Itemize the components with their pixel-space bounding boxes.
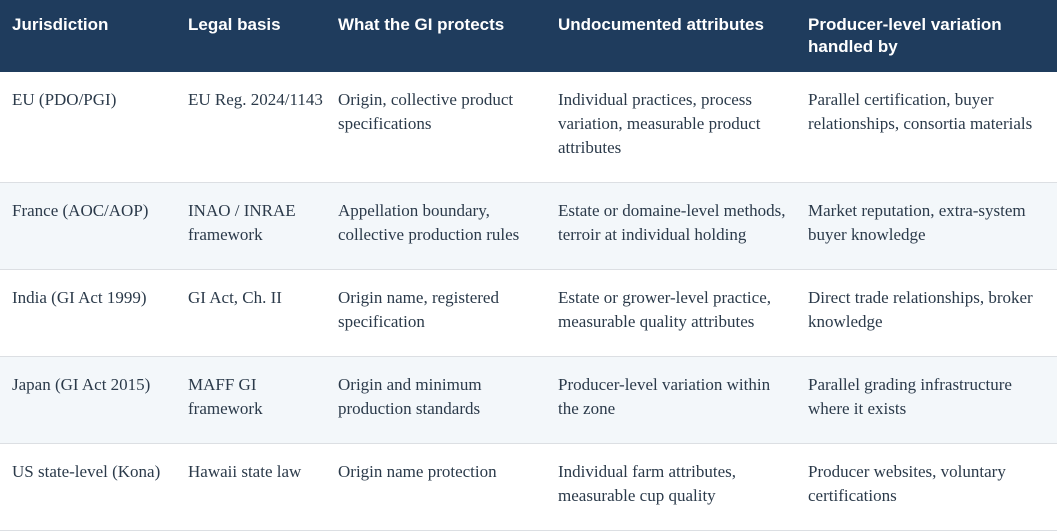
cell-legal-basis: MAFF GI framework <box>188 357 338 444</box>
table-header: Jurisdiction Legal basis What the GI pro… <box>0 0 1057 72</box>
table-header-row: Jurisdiction Legal basis What the GI pro… <box>0 0 1057 72</box>
table-row: India (GI Act 1999) GI Act, Ch. II Origi… <box>0 270 1057 357</box>
cell-legal-basis: EU Reg. 2024/1143 <box>188 72 338 183</box>
table-row: US state-level (Kona) Hawaii state law O… <box>0 444 1057 531</box>
table-row: France (AOC/AOP) INAO / INRAE framework … <box>0 183 1057 270</box>
cell-variation-handled-by: Producer websites, voluntary certificati… <box>808 444 1057 531</box>
cell-undocumented-attributes: Estate or grower-level practice, measura… <box>558 270 808 357</box>
cell-protects: Appellation boundary, collective product… <box>338 183 558 270</box>
column-header-undocumented-attributes: Undocumented attributes <box>558 0 808 72</box>
table-row: EU (PDO/PGI) EU Reg. 2024/1143 Origin, c… <box>0 72 1057 183</box>
cell-undocumented-attributes: Producer-level variation within the zone <box>558 357 808 444</box>
cell-jurisdiction: India (GI Act 1999) <box>0 270 188 357</box>
cell-protects: Origin and minimum production standards <box>338 357 558 444</box>
cell-variation-handled-by: Parallel grading infrastructure where it… <box>808 357 1057 444</box>
column-header-jurisdiction: Jurisdiction <box>0 0 188 72</box>
cell-jurisdiction: Japan (GI Act 2015) <box>0 357 188 444</box>
cell-variation-handled-by: Parallel certification, buyer relationsh… <box>808 72 1057 183</box>
cell-protects: Origin name, registered specification <box>338 270 558 357</box>
table-row: Japan (GI Act 2015) MAFF GI framework Or… <box>0 357 1057 444</box>
table-body: EU (PDO/PGI) EU Reg. 2024/1143 Origin, c… <box>0 72 1057 531</box>
cell-jurisdiction: US state-level (Kona) <box>0 444 188 531</box>
cell-legal-basis: GI Act, Ch. II <box>188 270 338 357</box>
cell-jurisdiction: EU (PDO/PGI) <box>0 72 188 183</box>
cell-variation-handled-by: Market reputation, extra-system buyer kn… <box>808 183 1057 270</box>
cell-undocumented-attributes: Individual farm attributes, measurable c… <box>558 444 808 531</box>
column-header-what-the-gi-protects: What the GI protects <box>338 0 558 72</box>
gi-jurisdiction-table: Jurisdiction Legal basis What the GI pro… <box>0 0 1057 531</box>
cell-protects: Origin name protection <box>338 444 558 531</box>
cell-legal-basis: INAO / INRAE framework <box>188 183 338 270</box>
cell-jurisdiction: France (AOC/AOP) <box>0 183 188 270</box>
comparison-table-container: Jurisdiction Legal basis What the GI pro… <box>0 0 1057 493</box>
cell-protects: Origin, collective product specification… <box>338 72 558 183</box>
column-header-producer-level-variation-handled-by: Producer-level variation handled by <box>808 0 1057 72</box>
column-header-legal-basis: Legal basis <box>188 0 338 72</box>
cell-variation-handled-by: Direct trade relationships, broker knowl… <box>808 270 1057 357</box>
cell-undocumented-attributes: Individual practices, process variation,… <box>558 72 808 183</box>
cell-undocumented-attributes: Estate or domaine-level methods, terroir… <box>558 183 808 270</box>
cell-legal-basis: Hawaii state law <box>188 444 338 531</box>
